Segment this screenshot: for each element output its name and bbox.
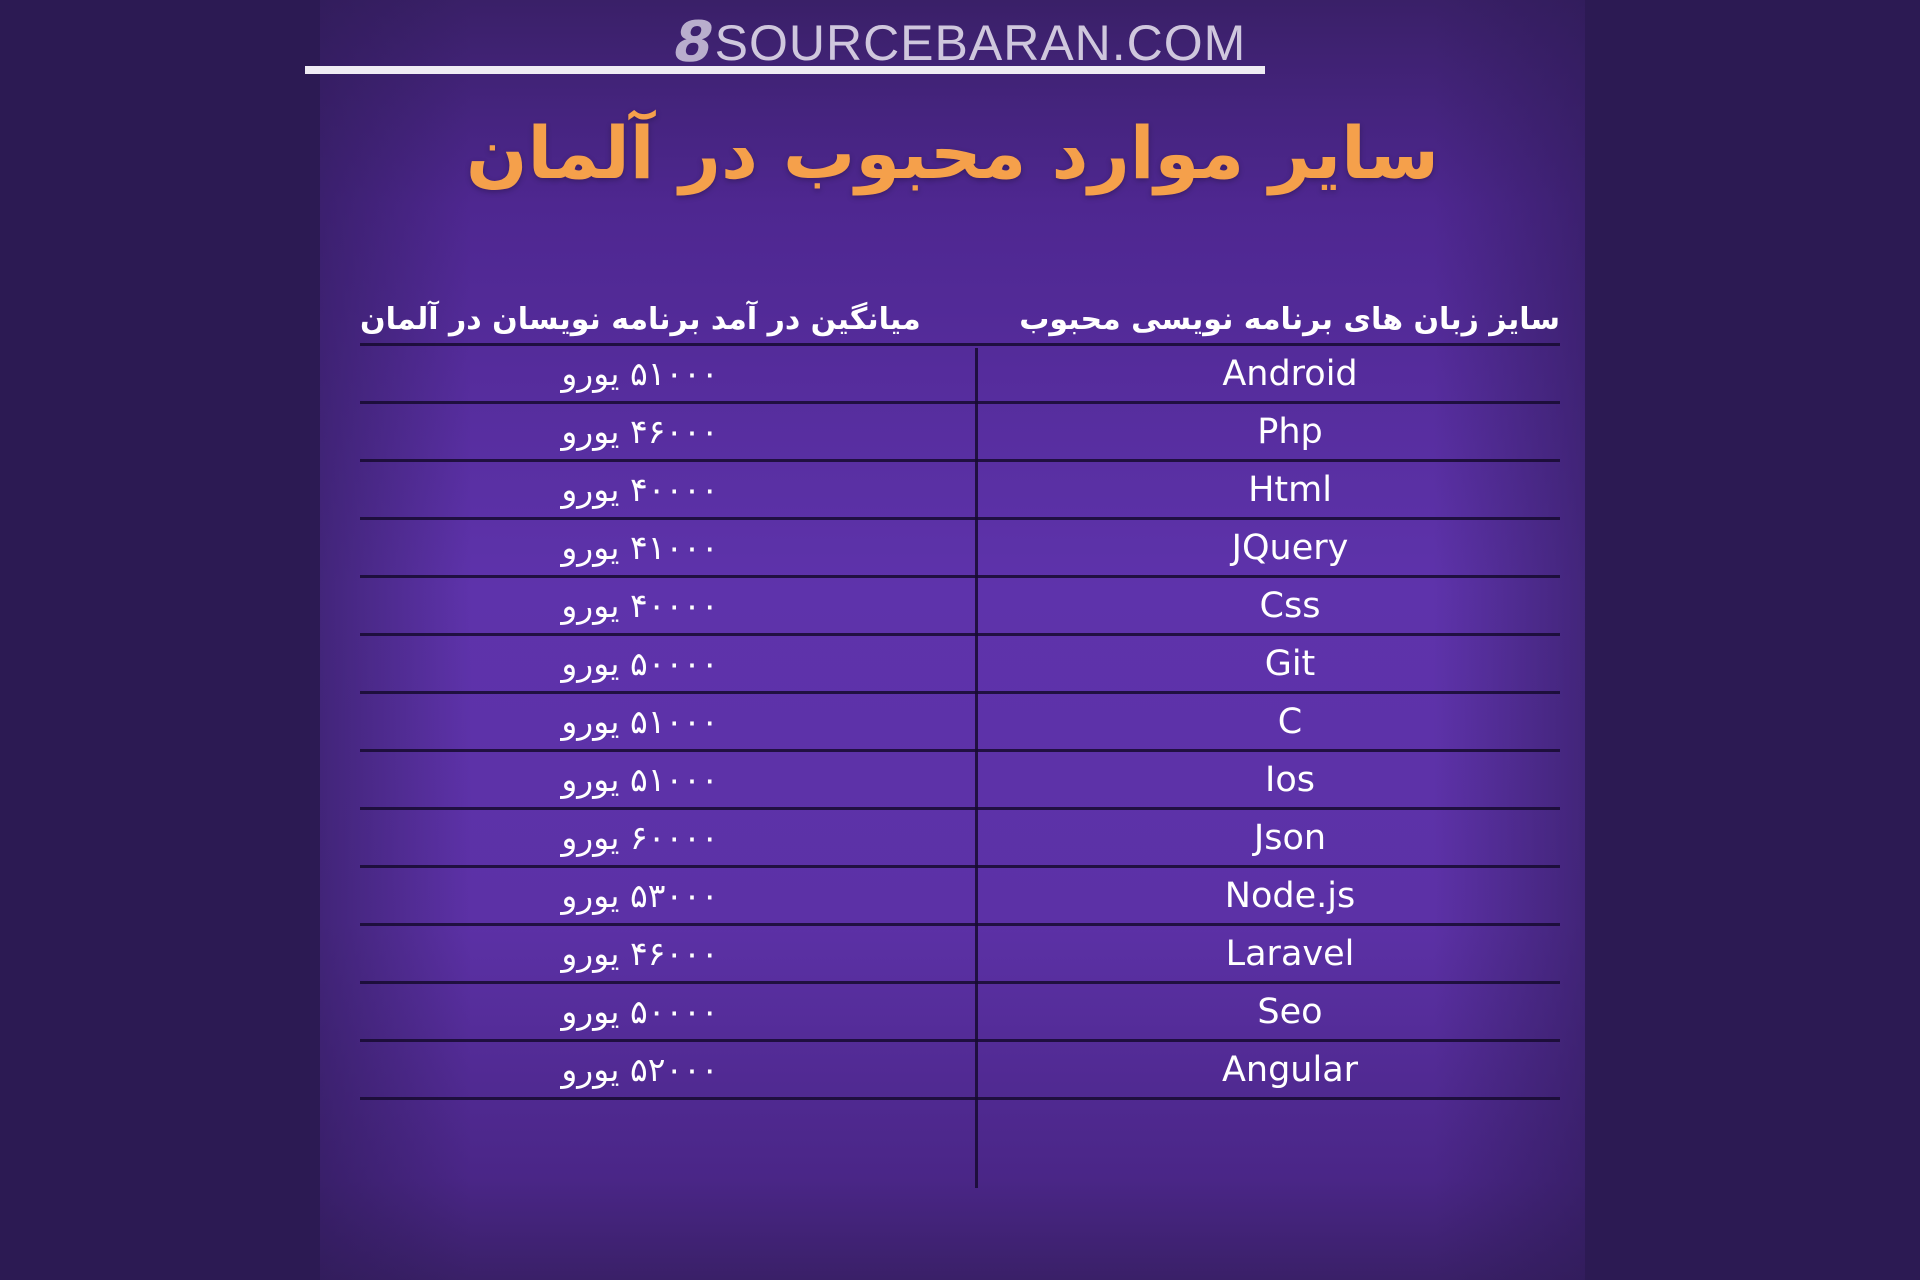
cell-language: JQuery	[1020, 528, 1560, 568]
table-row: ۴۰۰۰۰ یوروHtml	[360, 459, 1560, 517]
cell-salary: ۴۶۰۰۰ یورو	[360, 934, 920, 973]
cell-salary: ۴۰۰۰۰ یورو	[360, 586, 920, 625]
table-row: ۴۰۰۰۰ یوروCss	[360, 575, 1560, 633]
cell-salary: ۵۰۰۰۰ یورو	[360, 992, 920, 1031]
table-row: ۴۱۰۰۰ یوروJQuery	[360, 517, 1560, 575]
table-header-row: میانگین در آمد برنامه نویسان در آلمان سا…	[360, 275, 1560, 343]
cell-language: Android	[1020, 354, 1560, 394]
table-row: ۵۰۰۰۰ یوروSeo	[360, 981, 1560, 1039]
column-divider	[975, 348, 978, 1188]
table-row: ۵۱۰۰۰ یوروC	[360, 691, 1560, 749]
table-row: ۵۳۰۰۰ یوروNode.js	[360, 865, 1560, 923]
table-row: ۵۲۰۰۰ یوروAngular	[360, 1039, 1560, 1100]
cell-language: Laravel	[1020, 934, 1560, 974]
cell-language: Node.js	[1020, 876, 1560, 916]
column-header-salary: میانگین در آمد برنامه نویسان در آلمان	[360, 302, 921, 343]
header-underline-divider	[305, 66, 1265, 74]
cell-language: Angular	[1020, 1050, 1560, 1090]
comparison-table: میانگین در آمد برنامه نویسان در آلمان سا…	[360, 275, 1560, 1100]
cell-salary: ۵۱۰۰۰ یورو	[360, 760, 920, 799]
cell-language: Ios	[1020, 760, 1560, 800]
cell-salary: ۵۲۰۰۰ یورو	[360, 1050, 920, 1089]
cell-language: Json	[1020, 818, 1560, 858]
table-row: ۵۱۰۰۰ یوروIos	[360, 749, 1560, 807]
page-title: سایر موارد محبوب در آلمان	[320, 108, 1585, 198]
cell-language: Css	[1020, 586, 1560, 626]
table-row: ۶۰۰۰۰ یوروJson	[360, 807, 1560, 865]
infographic-canvas: 8 SOURCEBARAN.COM سایر موارد محبوب در آل…	[0, 0, 1920, 1280]
cell-salary: ۵۰۰۰۰ یورو	[360, 644, 920, 683]
cell-salary: ۴۱۰۰۰ یورو	[360, 528, 920, 567]
table-row: ۵۱۰۰۰ یوروAndroid	[360, 343, 1560, 401]
table-row: ۴۶۰۰۰ یوروLaravel	[360, 923, 1560, 981]
cell-salary: ۶۰۰۰۰ یورو	[360, 818, 920, 857]
table-row: ۴۶۰۰۰ یوروPhp	[360, 401, 1560, 459]
cell-language: Git	[1020, 644, 1560, 684]
cell-language: Php	[1020, 412, 1560, 452]
cell-salary: ۵۳۰۰۰ یورو	[360, 876, 920, 915]
cell-salary: ۵۱۰۰۰ یورو	[360, 702, 920, 741]
table-row: ۵۰۰۰۰ یوروGit	[360, 633, 1560, 691]
cell-salary: ۵۱۰۰۰ یورو	[360, 354, 920, 393]
cell-salary: ۴۰۰۰۰ یورو	[360, 470, 920, 509]
column-header-language: سایز زبان های برنامه نویسی محبوب	[1019, 302, 1560, 343]
cell-language: Seo	[1020, 992, 1560, 1032]
logo-mark-icon: 8	[668, 15, 717, 71]
cell-language: C	[1020, 702, 1560, 742]
cell-language: Html	[1020, 470, 1560, 510]
table-body: ۵۱۰۰۰ یوروAndroid۴۶۰۰۰ یوروPhp۴۰۰۰۰ یورو…	[360, 343, 1560, 1100]
cell-salary: ۴۶۰۰۰ یورو	[360, 412, 920, 451]
logo-wordmark: SOURCEBARAN.COM	[715, 18, 1247, 68]
